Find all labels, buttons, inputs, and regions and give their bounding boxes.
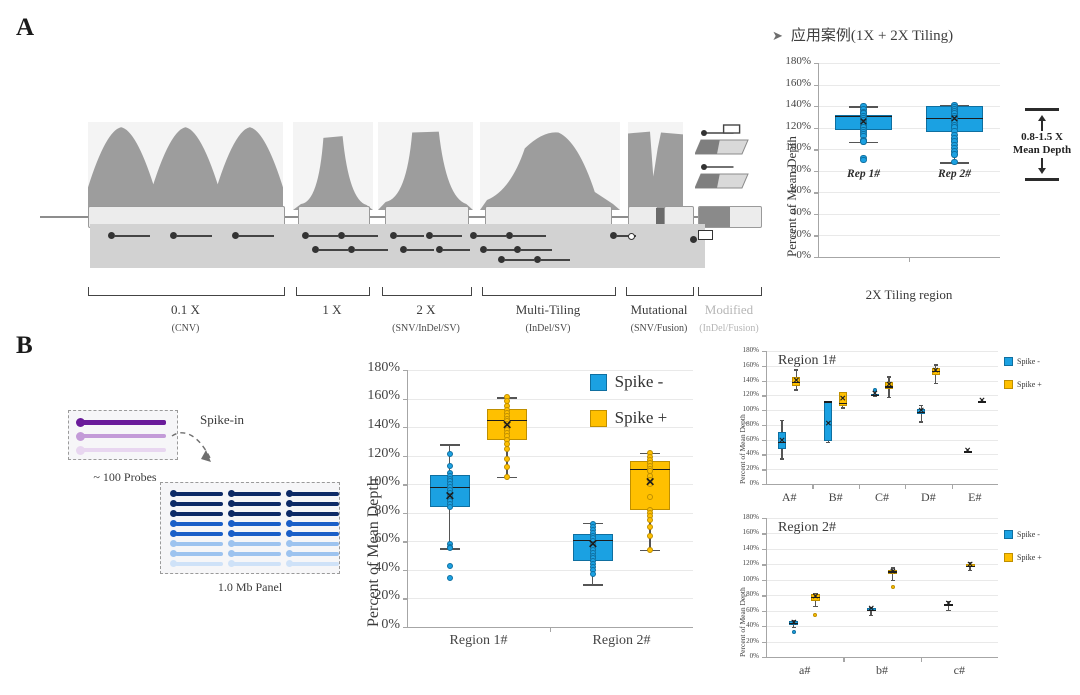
annotation-top-cap (1025, 108, 1059, 111)
data-point (891, 585, 895, 589)
whisker-cap-bottom (794, 389, 798, 390)
panel-a-boxplot-chart: 0%20%40%60%80%100%120%140%160%180%Rep 1#… (770, 55, 1010, 305)
legend-row-1: Spike + (1004, 553, 1042, 562)
x-tick-label-1: b# (843, 663, 920, 678)
y-tick-label-180: 180% (728, 346, 759, 354)
bracket-4 (482, 287, 616, 296)
mean-marker[interactable]: ✕ (885, 381, 893, 389)
panel-b-letter: B (16, 332, 33, 360)
y-axis-title: Percent of Mean Depth (784, 136, 800, 257)
x-axis-title: 2X Tiling region (818, 287, 1000, 303)
gridline-100 (818, 149, 1000, 150)
read-line (442, 249, 470, 251)
y-axis (818, 63, 819, 257)
y-tick-mark-120 (403, 456, 407, 457)
mean-marker[interactable]: ✕ (889, 568, 897, 576)
whisker-cap-top (780, 420, 784, 421)
legend-label-1: Spike + (1017, 553, 1042, 562)
mean-marker[interactable]: ✕ (950, 115, 960, 125)
panel-b-region2-chart: 0%20%40%60%80%100%120%140%160%180%a#b#c#… (728, 512, 1078, 687)
whisker-cap-bottom (919, 421, 923, 422)
read-line (238, 235, 274, 237)
bracket-1 (88, 287, 285, 296)
coverage-track-1 (88, 122, 283, 210)
reads-band (90, 224, 705, 268)
probe-line-1 (82, 434, 166, 438)
y-tick-label-100: 100% (728, 405, 759, 413)
y-axis (766, 351, 767, 484)
mean-marker[interactable]: ✕ (444, 490, 456, 502)
y-tick-label-140: 140% (728, 376, 759, 384)
read-line (476, 235, 506, 237)
data-point (951, 151, 957, 157)
x-axis (766, 657, 998, 658)
mean-marker[interactable]: ✕ (501, 419, 513, 431)
gridline-20 (818, 235, 1000, 236)
read-line (176, 235, 212, 237)
read-line (114, 235, 150, 237)
category-sublabel-6: (InDel/Fusion) (663, 323, 795, 334)
data-point (447, 463, 453, 469)
panel-probe-line-7-2 (291, 562, 339, 566)
y-tick-mark-180 (762, 351, 766, 352)
x-tick-mark-3 (905, 484, 906, 489)
bracket-3 (382, 287, 472, 296)
probe-line-0 (82, 420, 166, 425)
heading-english: (1X + 2X Tiling) (851, 28, 953, 44)
rep-label-0: Rep 1# (818, 168, 909, 180)
legend-swatch-0 (590, 374, 607, 391)
mean-marker[interactable]: ✕ (790, 619, 798, 627)
panel-probe-line-0-0 (175, 492, 223, 496)
data-point (860, 157, 866, 163)
mean-marker[interactable]: ✕ (966, 561, 974, 569)
y-tick-mark-140 (403, 427, 407, 428)
gridline-120 (766, 395, 998, 396)
whisker-cap-bottom (583, 584, 603, 585)
y-tick-mark-120 (762, 564, 766, 565)
y-tick-mark-40 (762, 454, 766, 455)
y-tick-label-180: 180% (770, 55, 811, 67)
whisker-cap-bottom (780, 458, 784, 459)
x-tick-mark-2 (859, 484, 860, 489)
mean-marker[interactable]: ✕ (932, 367, 940, 375)
rep-label-1: Rep 2# (909, 168, 1000, 180)
read-line (512, 235, 546, 237)
gridline-100 (766, 410, 998, 411)
y-tick-label-160: 160% (345, 388, 400, 404)
data-point (504, 446, 510, 452)
mean-marker[interactable]: ✕ (867, 605, 875, 613)
panel-probe-line-1-2 (291, 502, 339, 506)
whisker-cap-bottom (792, 627, 797, 628)
modified-exon (698, 206, 762, 228)
read-line (432, 235, 462, 237)
y-tick-mark-180 (814, 63, 818, 64)
annotation-line1: 0.8-1.5 X (1004, 131, 1080, 145)
heading-chinese: 应用案例 (791, 26, 851, 44)
panel-probe-line-5-1 (233, 542, 281, 546)
x-axis (766, 484, 998, 485)
data-point (860, 138, 866, 144)
y-axis-title: Percent of Mean Depth (738, 414, 747, 484)
y-tick-mark-100 (762, 410, 766, 411)
gridline-60 (766, 440, 998, 441)
mean-marker[interactable]: ✕ (859, 118, 869, 128)
annotation-upper-line (1041, 121, 1043, 131)
x-tick-mark-4 (952, 484, 953, 489)
legend-main: Spike -Spike + (590, 372, 667, 444)
whisker-cap-bottom (968, 570, 973, 571)
x-tick-label-1: Region 2# (550, 633, 693, 649)
read-line (344, 235, 378, 237)
y-tick-mark-140 (814, 106, 818, 107)
whisker-cap-top (887, 376, 891, 377)
gridline-160 (818, 85, 1000, 86)
depth-range-annotation: 0.8-1.5 X Mean Depth (1004, 108, 1080, 181)
plot-area (818, 63, 1000, 257)
spike-in-arrow-icon (170, 428, 230, 474)
x-tick-label-0: Region 1# (407, 633, 550, 649)
legend-row-1: Spike + (1004, 380, 1042, 389)
read-line (354, 249, 388, 251)
panel-probe-line-3-0 (175, 522, 223, 526)
y-tick-mark-100 (814, 149, 818, 150)
legend-row-0: Spike - (1004, 357, 1042, 366)
legend-label-1: Spike + (1017, 380, 1042, 389)
bracket-6 (698, 287, 762, 296)
panel-probe-line-0-1 (233, 492, 281, 496)
bracket-2 (296, 287, 370, 296)
y-tick-mark-40 (762, 626, 766, 627)
chart-title: Region 1# (778, 353, 836, 369)
y-tick-mark-60 (762, 440, 766, 441)
y-tick-mark-100 (403, 484, 407, 485)
data-point (447, 563, 453, 569)
data-point (951, 159, 957, 165)
gridline-40 (407, 570, 693, 571)
y-tick-label-120: 120% (770, 120, 811, 132)
x-tick-mark-1 (550, 627, 551, 632)
panel-probe-line-3-2 (291, 522, 339, 526)
y-tick-label-120: 120% (345, 446, 400, 462)
y-tick-label-120: 120% (728, 390, 759, 398)
gridline-60 (766, 611, 998, 612)
legend-swatch-1 (1004, 553, 1013, 562)
read-line (504, 259, 534, 261)
y-tick-mark-80 (762, 595, 766, 596)
y-tick-mark-160 (762, 533, 766, 534)
panel-probe-line-4-2 (291, 532, 339, 536)
coverage-track-6 (695, 122, 750, 210)
panel-probe-line-1-1 (233, 502, 281, 506)
panel-probe-line-6-1 (233, 552, 281, 556)
whisker-cap-bottom (826, 442, 830, 443)
y-tick-mark-100 (762, 580, 766, 581)
read-line (318, 249, 348, 251)
mean-marker[interactable]: ✕ (644, 476, 656, 488)
panel-probe-line-1-0 (175, 502, 223, 506)
whisker-cap-bottom (887, 397, 891, 398)
y-tick-mark-0 (762, 484, 766, 485)
mean-marker[interactable]: ✕ (792, 377, 800, 385)
gridline-140 (766, 549, 998, 550)
x-tick-mark-2 (921, 657, 922, 662)
y-tick-mark-140 (762, 381, 766, 382)
data-point (647, 533, 653, 539)
y-tick-mark-40 (403, 570, 407, 571)
gridline-60 (818, 192, 1000, 193)
y-tick-mark-0 (762, 657, 766, 658)
x-tick-label-4: E# (952, 490, 998, 505)
panel-a-schematic: 0.1 X(CNV)1 X2 X(SNV/InDel/SV)Multi-Tili… (30, 60, 750, 280)
mean-marker[interactable]: ✕ (917, 407, 925, 415)
coverage-track-2 (293, 122, 373, 210)
y-tick-label-180: 180% (728, 513, 759, 521)
x-tick-mark-1 (812, 484, 813, 489)
annotation-line2: Mean Depth (1004, 144, 1080, 158)
panel-a-letter: A (16, 14, 34, 42)
mean-marker[interactable]: ✕ (587, 538, 599, 550)
mean-marker[interactable]: ✕ (778, 437, 786, 445)
x-tick-mark-1 (909, 257, 910, 262)
legend-label-0: Spike - (1017, 357, 1040, 366)
legend-swatch-1 (590, 410, 607, 427)
coverage-track-3 (378, 122, 473, 210)
x-tick-mark-1 (843, 657, 844, 662)
panel-probe-line-3-1 (233, 522, 281, 526)
legend-label-0: Spike - (1017, 530, 1040, 539)
coverage-track-4 (480, 122, 620, 210)
y-tick-mark-60 (762, 611, 766, 612)
y-tick-mark-160 (814, 85, 818, 86)
panel-probe-line-4-1 (233, 532, 281, 536)
legend-row-0: Spike - (1004, 530, 1042, 539)
bullet-icon: ➤ (772, 28, 783, 43)
y-axis (407, 370, 408, 627)
y-tick-mark-20 (762, 642, 766, 643)
read-line (396, 235, 424, 237)
mean-marker[interactable]: ✕ (945, 600, 953, 608)
read-line (308, 235, 338, 237)
y-tick-label-120: 120% (728, 559, 759, 567)
y-tick-mark-60 (814, 192, 818, 193)
annotation-bottom-cap (1025, 178, 1059, 181)
gridline-80 (766, 425, 998, 426)
chart-title: Region 2# (778, 520, 836, 536)
mean-marker[interactable]: ✕ (871, 390, 879, 398)
whisker-cap-bottom (841, 407, 845, 408)
x-tick-label-0: a# (766, 663, 843, 678)
panel-probe-line-2-1 (233, 512, 281, 516)
plot-area (766, 351, 998, 484)
read-line (406, 249, 434, 251)
y-axis-title: Percent of Mean Depth (738, 587, 747, 657)
panel-b-main-boxplot-chart: 0%20%40%60%80%100%120%140%160%180%Region… (345, 360, 705, 675)
y-tick-mark-0 (403, 627, 407, 628)
panel-probe-line-4-0 (175, 532, 223, 536)
whisker-cap-bottom (934, 383, 938, 384)
panel-b-region1-chart: 0%20%40%60%80%100%120%140%160%180%A#B#C#… (728, 345, 1078, 510)
y-tick-mark-80 (403, 513, 407, 514)
y-tick-mark-40 (814, 214, 818, 215)
y-tick-label-100: 100% (728, 575, 759, 583)
data-point (504, 456, 510, 462)
y-tick-label-140: 140% (345, 417, 400, 433)
whisker-cap-bottom (946, 610, 951, 611)
y-tick-label-180: 180% (345, 360, 400, 376)
gridline-180 (818, 63, 1000, 64)
y-tick-mark-180 (403, 370, 407, 371)
data-point (447, 504, 453, 510)
panel-probe-line-0-2 (291, 492, 339, 496)
gridline-120 (766, 564, 998, 565)
panel-probe-line-6-0 (175, 552, 223, 556)
x-tick-label-0: A# (766, 490, 812, 505)
panel-probe-line-2-2 (291, 512, 339, 516)
x-tick-label-2: c# (921, 663, 998, 678)
read-line (486, 249, 516, 251)
category-sublabel-1: (CNV) (53, 323, 318, 334)
mb-panel-label: 1.0 Mb Panel (160, 580, 340, 595)
y-tick-mark-60 (403, 541, 407, 542)
x-tick-label-3: D# (905, 490, 951, 505)
read-dot (690, 236, 697, 243)
whisker-cap-bottom (891, 580, 896, 581)
legend-region1: Spike -Spike + (1004, 357, 1042, 403)
read-line (540, 259, 570, 261)
panel-probe-line-2-0 (175, 512, 223, 516)
data-point (647, 517, 653, 523)
panel-probe-line-7-1 (233, 562, 281, 566)
panel-probe-line-6-2 (291, 552, 339, 556)
probe-line-2 (82, 448, 166, 452)
mean-marker[interactable]: ✕ (811, 593, 819, 601)
gridline-20 (766, 469, 998, 470)
gridline-20 (407, 598, 693, 599)
read-dot-open (628, 233, 635, 240)
y-tick-mark-80 (762, 425, 766, 426)
y-tick-mark-120 (762, 395, 766, 396)
x-tick-label-1: B# (812, 490, 858, 505)
y-tick-mark-120 (814, 128, 818, 129)
coverage-track-5 (628, 122, 683, 210)
gridline-180 (766, 351, 998, 352)
mean-marker[interactable]: ✕ (978, 397, 986, 405)
arrow-down-icon (1038, 168, 1046, 174)
mb-panel-box (160, 482, 340, 574)
y-tick-label-140: 140% (770, 98, 811, 110)
y-tick-label-160: 160% (770, 77, 811, 89)
spike-in-label: Spike-in (200, 412, 244, 428)
legend-row-0: Spike - (590, 372, 667, 392)
legend-swatch-0 (1004, 530, 1013, 539)
legend-row-1: Spike + (590, 408, 667, 428)
bracket-5 (626, 287, 694, 296)
gridline-180 (766, 518, 998, 519)
panel-probe-line-5-0 (175, 542, 223, 546)
y-tick-label-160: 160% (728, 528, 759, 536)
whisker-cap-top (794, 369, 798, 370)
panel-probe-line-7-0 (175, 562, 223, 566)
y-tick-mark-160 (403, 399, 407, 400)
y-tick-mark-140 (762, 549, 766, 550)
legend-label-1: Spike + (615, 408, 668, 428)
gridline-100 (766, 580, 998, 581)
gridline-40 (818, 214, 1000, 215)
read-line (520, 249, 552, 251)
legend-swatch-1 (1004, 380, 1013, 389)
mean-marker[interactable]: ✕ (964, 447, 972, 455)
y-tick-mark-160 (762, 366, 766, 367)
x-tick-label-2: C# (859, 490, 905, 505)
legend-label-0: Spike - (615, 372, 664, 392)
read-box (698, 230, 713, 240)
median-line (824, 401, 832, 402)
spike-in-diagram: ~ 100 Probes Spike-in 1.0 Mb Panel (40, 390, 340, 620)
mean-marker[interactable]: ✕ (824, 420, 832, 428)
gridline-20 (766, 642, 998, 643)
y-tick-mark-180 (762, 518, 766, 519)
y-axis (766, 518, 767, 657)
mean-marker[interactable]: ✕ (839, 395, 847, 403)
y-tick-label-140: 140% (728, 544, 759, 552)
annotation-lower-line (1041, 158, 1043, 168)
plot-area (766, 518, 998, 657)
panel-a-heading: ➤应用案例(1X + 2X Tiling) (772, 24, 953, 45)
whisker-cap-top (440, 444, 460, 445)
y-tick-mark-20 (762, 469, 766, 470)
gridline-80 (766, 595, 998, 596)
gridline-180 (407, 370, 693, 371)
gridline-40 (766, 626, 998, 627)
y-axis-title: Percent of Mean Depth (365, 478, 383, 627)
panel-probe-line-5-2 (291, 542, 339, 546)
legend-region2: Spike -Spike + (1004, 530, 1042, 576)
gridline-140 (766, 381, 998, 382)
y-tick-mark-0 (814, 257, 818, 258)
y-tick-mark-20 (814, 235, 818, 236)
whisker-cap-bottom (813, 606, 818, 607)
legend-swatch-0 (1004, 357, 1013, 366)
data-point (647, 547, 653, 553)
y-tick-label-160: 160% (728, 361, 759, 369)
whisker-cap-bottom (869, 615, 874, 616)
y-tick-mark-20 (403, 598, 407, 599)
